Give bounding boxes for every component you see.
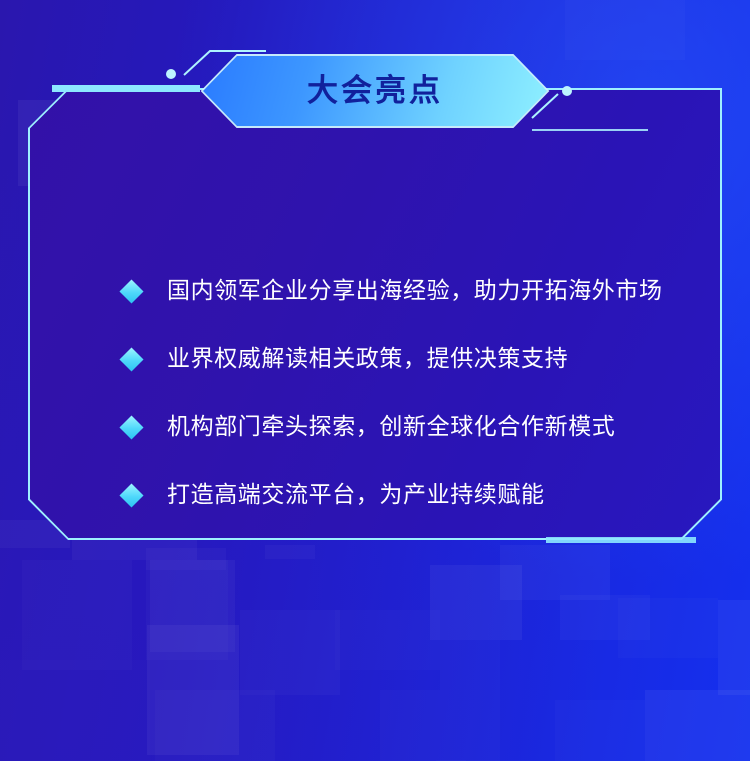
page-title: 大会亮点 bbox=[203, 56, 547, 126]
section-title-banner: 大会亮点 bbox=[203, 56, 547, 126]
background-block bbox=[240, 610, 340, 695]
highlight-item-text: 打造高端交流平台，为产业持续赋能 bbox=[167, 482, 545, 507]
background-block bbox=[718, 600, 750, 695]
highlight-item-text: 业界权威解读相关政策，提供决策支持 bbox=[167, 346, 568, 371]
highlight-item-text: 机构部门牵头探索，创新全球化合作新模式 bbox=[167, 414, 615, 439]
highlight-item-text: 国内领军企业分享出海经验，助力开拓海外市场 bbox=[167, 278, 663, 303]
highlight-item: 打造高端交流平台，为产业持续赋能 bbox=[120, 476, 720, 514]
background-block bbox=[565, 0, 685, 60]
background-block bbox=[560, 595, 650, 640]
background-block bbox=[0, 660, 150, 761]
highlight-item: 业界权威解读相关政策，提供决策支持 bbox=[120, 340, 720, 378]
highlight-item: 机构部门牵头探索，创新全球化合作新模式 bbox=[120, 408, 720, 446]
diamond-bullet-icon bbox=[119, 415, 143, 439]
background-block bbox=[265, 545, 315, 559]
background-block bbox=[440, 640, 500, 690]
background-block bbox=[618, 598, 718, 658]
panel-accent-top-left bbox=[52, 85, 200, 92]
background-block bbox=[22, 560, 132, 670]
background-block bbox=[500, 545, 610, 600]
background-block bbox=[335, 610, 440, 670]
background-block bbox=[146, 560, 228, 660]
highlights-list: 国内领军企业分享出海经验，助力开拓海外市场业界权威解读相关政策，提供决策支持机构… bbox=[120, 272, 720, 514]
highlight-item: 国内领军企业分享出海经验，助力开拓海外市场 bbox=[120, 272, 720, 310]
diamond-bullet-icon bbox=[119, 279, 143, 303]
highlights-panel: 国内领军企业分享出海经验，助力开拓海外市场业界权威解读相关政策，提供决策支持机构… bbox=[28, 88, 722, 540]
background-block bbox=[645, 690, 750, 761]
background-block bbox=[150, 560, 235, 652]
background-block bbox=[380, 690, 500, 761]
diamond-bullet-icon bbox=[119, 347, 143, 371]
panel-accent-bottom-right bbox=[546, 537, 696, 543]
background-block bbox=[430, 565, 522, 640]
background-block bbox=[72, 540, 197, 560]
background-block bbox=[147, 625, 239, 755]
background-block bbox=[146, 548, 226, 570]
poster-canvas: 国内领军企业分享出海经验，助力开拓海外市场业界权威解读相关政策，提供决策支持机构… bbox=[0, 0, 750, 761]
diamond-bullet-icon bbox=[119, 483, 143, 507]
background-block bbox=[155, 690, 275, 761]
background-block bbox=[555, 700, 645, 761]
